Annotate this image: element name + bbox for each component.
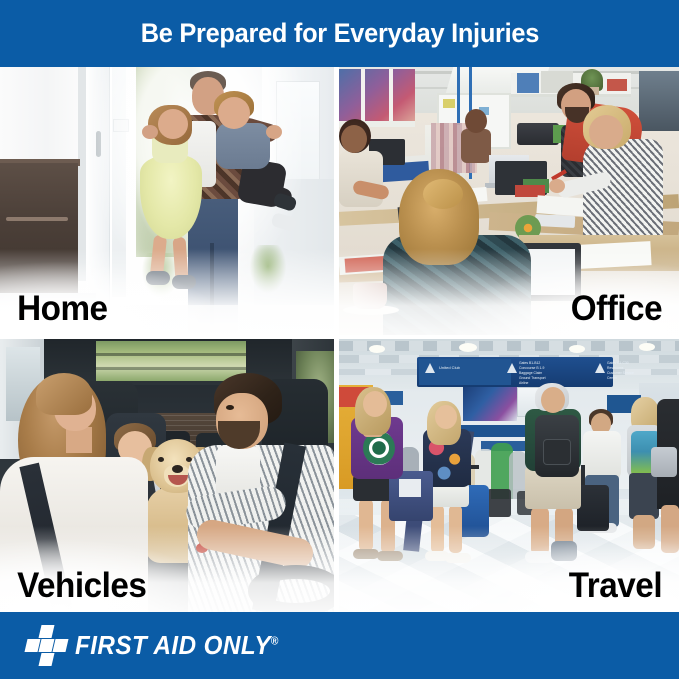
first-aid-cross-logo-icon [26,627,70,665]
sign-mid-text: Gates B1-B12Concourse B 1-9Baggage Claim… [519,361,546,387]
brand-name: FIRST AID ONLY [75,630,271,660]
up-arrow-icon [507,363,517,373]
office-scene-photo [339,67,679,335]
panel-grid: Home [0,67,679,612]
vehicles-scene-photo [0,339,334,612]
sign-right-text: Gates C1-C30RestroomsCustomer ServiceCen… [607,361,634,381]
registered-trademark-symbol: ® [271,635,279,647]
panel-office[interactable]: Office [339,67,679,335]
sign-left-text: United Club [439,365,460,370]
home-scene-photo [0,67,334,335]
header-title: Be Prepared for Everyday Injuries [140,18,538,49]
header-banner: Be Prepared for Everyday Injuries [0,0,679,67]
panel-travel[interactable]: United Club Gates B1-B12Concourse B 1-9B… [339,339,679,612]
panel-vehicles[interactable]: Vehicles [0,339,334,612]
brand-logo-text: FIRST AID ONLY® [75,630,279,661]
brand-logo[interactable]: FIRST AID ONLY® [26,627,294,665]
footer-banner: FIRST AID ONLY® [0,612,679,679]
up-arrow-icon [595,363,605,373]
travel-scene-photo: United Club Gates B1-B12Concourse B 1-9B… [339,339,679,612]
panel-home[interactable]: Home [0,67,334,335]
up-arrow-icon [425,363,435,373]
infographic-image: Be Prepared for Everyday Injuries [0,0,679,679]
